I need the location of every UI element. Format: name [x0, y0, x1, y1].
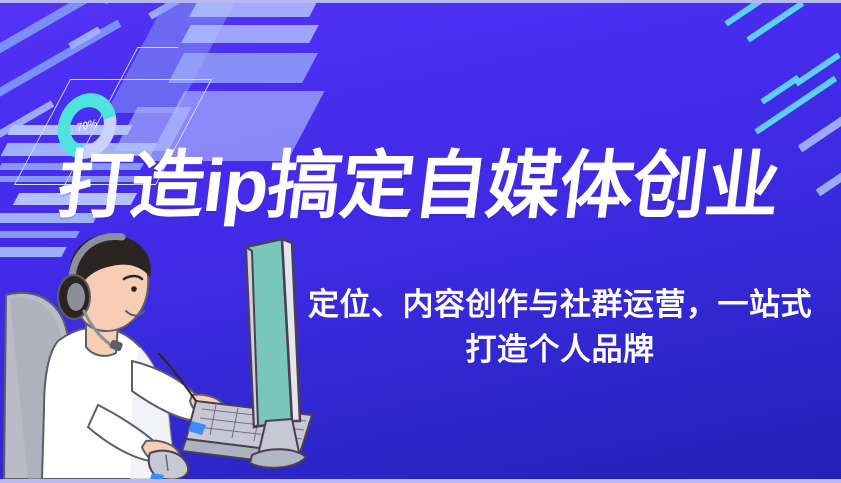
promo-poster: 70% 打造ip搞定自媒体创业 定位、内容创作与社群运营，一站式 打造个人品牌 [0, 0, 841, 483]
diagonal-stripe-tl-1 [0, 0, 145, 69]
diagonal-stripe-tl-3 [0, 100, 54, 141]
diagonal-stripe-tr-2 [746, 1, 804, 43]
diagonal-stripe-tr-5 [754, 76, 837, 135]
skew-panel-right-3 [168, 53, 318, 83]
skew-panel-right-2 [181, 25, 319, 43]
skew-panel-right-1 [189, 0, 323, 17]
diagonal-stripe-tr-6 [798, 101, 841, 152]
diagonal-stripe-tr-3 [760, 75, 800, 105]
diagonal-stripe-tl-5 [102, 0, 184, 4]
diagonal-stripe-tr-4 [794, 52, 840, 86]
subtitle-line-1: 定位、内容创作与社群运营，一站式 [308, 287, 812, 322]
diagonal-stripe-tr-1 [724, 0, 792, 26]
illustration-person-at-computer [0, 229, 330, 479]
subtitle-line-2: 打造个人品牌 [292, 328, 828, 373]
diagonal-stripe-tl-7 [68, 26, 101, 49]
skew-panel-center-1 [106, 0, 240, 113]
computer-mouse [149, 451, 188, 479]
page-subtitle: 定位、内容创作与社群运营，一站式 打造个人品牌 [292, 283, 828, 373]
diagonal-stripe-tl-6 [148, 0, 203, 20]
page-title: 打造ip搞定自媒体创业 [53, 149, 822, 223]
